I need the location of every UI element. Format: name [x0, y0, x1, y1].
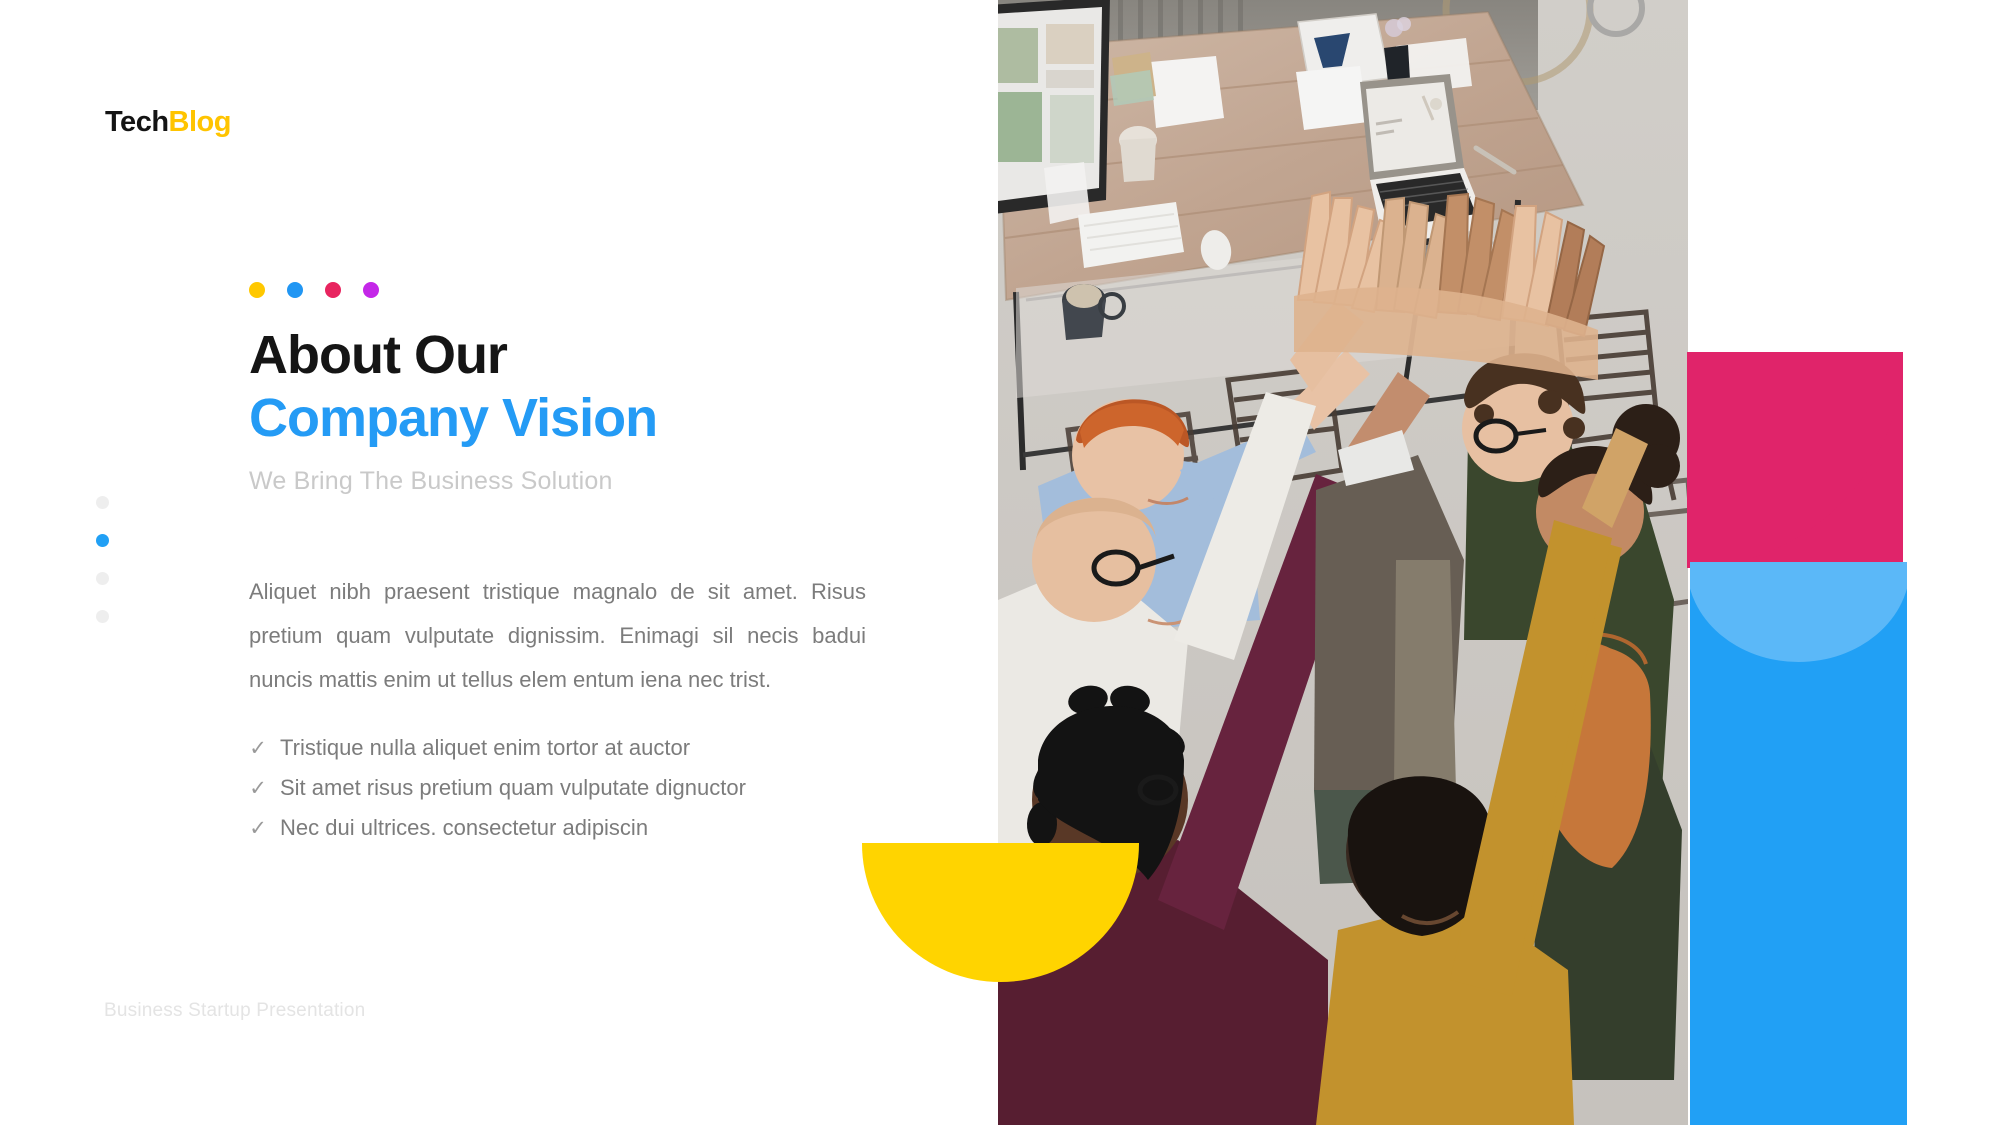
accent-dot-yellow: [249, 282, 265, 298]
page-subtitle: We Bring The Business Solution: [249, 467, 889, 496]
pagination-dot-2[interactable]: [96, 534, 109, 547]
check-icon: ✓: [249, 818, 267, 839]
logo-text-blog: Blog: [169, 106, 231, 138]
page-title-line-2: Company Vision: [249, 387, 889, 450]
accent-dot-pink: [325, 282, 341, 298]
list-item-label: Sit amet risus pretium quam vulputate di…: [280, 777, 746, 799]
list-item-label: Tristique nulla aliquet enim tortor at a…: [280, 737, 690, 759]
slide-pagination[interactable]: [96, 496, 109, 623]
check-icon: ✓: [249, 738, 267, 759]
body-paragraph: Aliquet nibh praesent tristique magnalo …: [249, 570, 866, 702]
team-photo-illustration: [998, 0, 1688, 1125]
decor-blue-arc: [1690, 562, 1907, 662]
decor-blue-block: [1690, 562, 1907, 1125]
footer-note: Business Startup Presentation: [104, 1000, 365, 1022]
accent-dot-blue: [287, 282, 303, 298]
accent-dot-row: [249, 282, 889, 298]
logo-text-tech: Tech: [105, 106, 169, 138]
presentation-slide: TechBlog About Our Company Vision We Bri…: [0, 0, 2000, 1125]
list-item: ✓ Tristique nulla aliquet enim tortor at…: [249, 728, 889, 768]
pagination-dot-1[interactable]: [96, 496, 109, 509]
pagination-dot-3[interactable]: [96, 572, 109, 585]
list-item: ✓ Sit amet risus pretium quam vulputate …: [249, 768, 889, 808]
pagination-dot-4[interactable]: [96, 610, 109, 623]
decor-pink-shape: [1687, 352, 1903, 568]
brand-logo[interactable]: TechBlog: [105, 108, 231, 137]
accent-dot-purple: [363, 282, 379, 298]
feature-list: ✓ Tristique nulla aliquet enim tortor at…: [249, 728, 889, 848]
decor-pink-quartercircle: [1687, 352, 1903, 568]
content-column: About Our Company Vision We Bring The Bu…: [249, 282, 889, 848]
page-title: About Our Company Vision: [249, 324, 889, 449]
page-title-line-1: About Our: [249, 324, 889, 387]
list-item: ✓ Nec dui ultrices. consectetur adipisci…: [249, 808, 889, 848]
team-photo: [998, 0, 1688, 1125]
check-icon: ✓: [249, 778, 267, 799]
list-item-label: Nec dui ultrices. consectetur adipiscin: [280, 817, 648, 839]
